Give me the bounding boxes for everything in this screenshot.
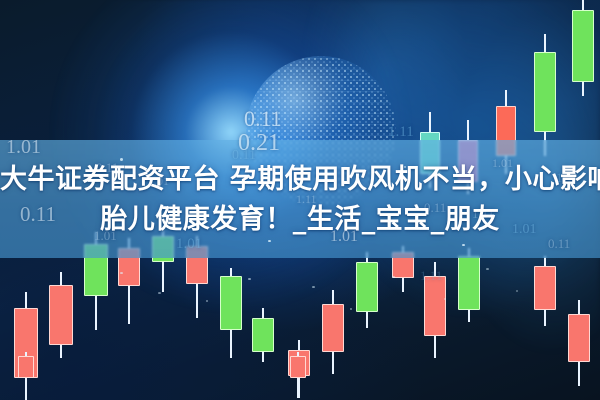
candle-body xyxy=(49,285,73,345)
candle-body xyxy=(356,262,378,312)
candle-body xyxy=(18,356,34,378)
particle-speck xyxy=(206,300,208,302)
candlestick-bar xyxy=(572,0,594,96)
headline-text: 大牛证券配资平台 孕期使用吹风机不当，小心影响 胎儿健康发育！_生活_宝宝_朋友 xyxy=(0,160,600,240)
candle-body xyxy=(252,318,274,352)
particle-speck xyxy=(350,308,352,310)
candle-body xyxy=(322,304,344,352)
candlestick-bar xyxy=(49,272,73,358)
headline-line-1: 大牛证券配资平台 孕期使用吹风机不当，小心影响 xyxy=(0,160,600,200)
candle-body xyxy=(290,356,306,378)
candle-body xyxy=(424,276,446,336)
particle-speck xyxy=(516,290,518,292)
news-banner: 1.01 0.11 1.01 0.11 1.01 1.01 0.11 1.11 … xyxy=(0,0,600,400)
candle-body xyxy=(534,266,556,310)
candlestick-bar xyxy=(356,252,378,328)
particle-speck xyxy=(248,278,251,280)
candlestick-bar xyxy=(534,34,556,156)
particle-speck xyxy=(312,286,315,288)
candlestick-bar xyxy=(290,352,306,398)
candlestick-bar xyxy=(252,308,274,362)
candlestick-bar xyxy=(18,352,34,400)
particle-speck xyxy=(268,240,271,242)
particle-speck xyxy=(120,272,123,274)
particle-speck xyxy=(444,298,446,300)
candle-body xyxy=(534,52,556,132)
candlestick-bar xyxy=(534,256,556,326)
candle-body xyxy=(220,276,242,330)
candlestick-bar xyxy=(458,248,480,322)
particle-speck xyxy=(486,268,489,270)
candlestick-bar xyxy=(424,262,446,358)
particle-speck xyxy=(392,276,395,278)
candle-body xyxy=(458,256,480,310)
candlestick-bar xyxy=(568,300,590,386)
particle-speck xyxy=(462,244,465,246)
candle-body xyxy=(568,314,590,362)
headline-line-2: 胎儿健康发育！_生活_宝宝_朋友 xyxy=(0,200,600,240)
candlestick-bar xyxy=(322,290,344,374)
candle-body xyxy=(572,10,594,82)
candlestick-bar xyxy=(220,268,242,358)
particle-speck xyxy=(158,292,161,294)
